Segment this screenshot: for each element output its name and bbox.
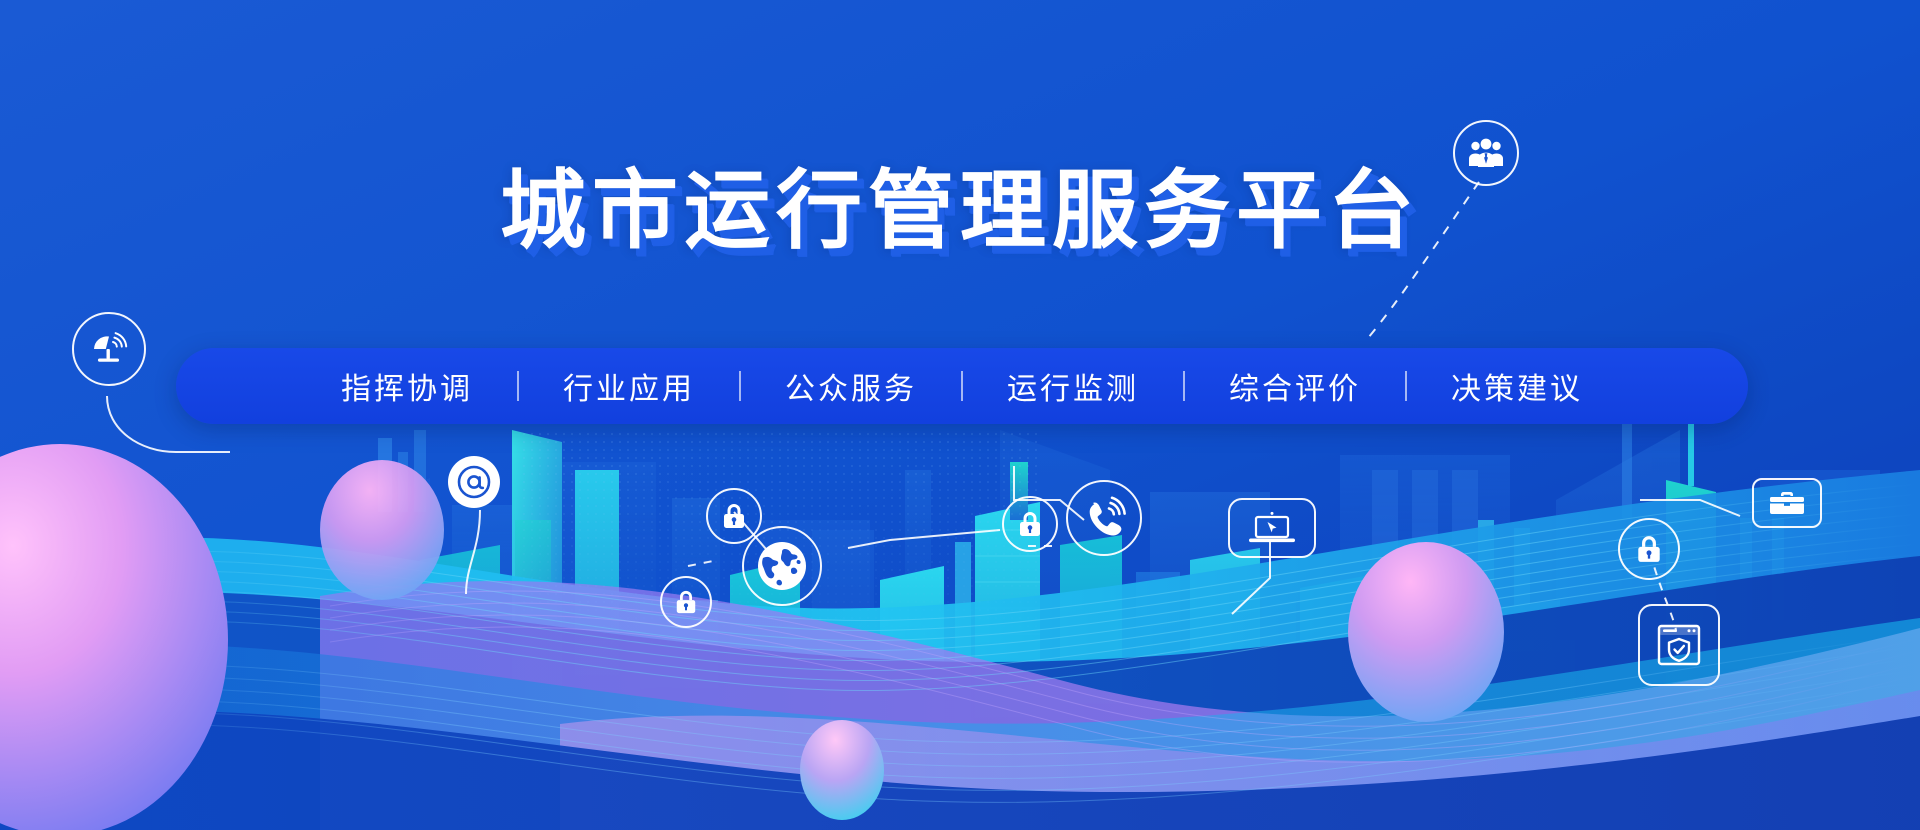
primary-nav-items: 指挥协调 行业应用 公众服务 运行监测 综合评价 决策建议: [297, 364, 1627, 408]
lock-icon-4[interactable]: [1618, 518, 1680, 580]
sphere-small: [800, 720, 884, 820]
nav-item-operation-monitoring[interactable]: 运行监测: [963, 364, 1183, 408]
contour-lines: [0, 484, 1920, 690]
globe-glyph: [754, 538, 810, 594]
city-ops-banner: 城市运行管理服务平台 指挥协调 行业应用 公众服务 运行监测 综合评价 决策建议: [0, 0, 1920, 830]
globe-icon[interactable]: [742, 526, 822, 606]
laptop-cursor-glyph: [1246, 510, 1298, 546]
browser-shield-icon[interactable]: [1638, 604, 1720, 686]
lock-icon-3[interactable]: [1002, 496, 1058, 552]
nav-item-public-service[interactable]: 公众服务: [741, 364, 961, 408]
sphere-mid-left: [320, 460, 444, 600]
lock-glyph: [1635, 534, 1663, 564]
nav-item-decision-advice[interactable]: 决策建议: [1407, 364, 1627, 408]
sphere-mid-right: [1348, 542, 1504, 722]
lock-glyph: [1017, 510, 1043, 538]
sphere-large-left: [0, 444, 228, 830]
lock-glyph: [721, 502, 747, 530]
nav-item-command-coordination[interactable]: 指挥协调: [297, 364, 517, 408]
primary-nav-bar[interactable]: 指挥协调 行业应用 公众服务 运行监测 综合评价 决策建议: [176, 348, 1748, 424]
at-sign-glyph: [457, 465, 491, 499]
page-title: 城市运行管理服务平台: [500, 168, 1420, 254]
lock-glyph: [674, 589, 698, 615]
briefcase-icon[interactable]: [1752, 478, 1822, 528]
contour-lines-lower: [0, 634, 1920, 802]
at-sign-icon[interactable]: [448, 456, 500, 508]
browser-shield-glyph: [1653, 619, 1705, 671]
page-title-wrap: 城市运行管理服务平台: [0, 168, 1920, 254]
lock-icon-1[interactable]: [706, 488, 762, 544]
nav-item-comprehensive-evaluation[interactable]: 综合评价: [1185, 364, 1405, 408]
phone-call-icon[interactable]: [1066, 480, 1142, 556]
lock-icon-2[interactable]: [660, 576, 712, 628]
nav-item-industry-application[interactable]: 行业应用: [519, 364, 739, 408]
briefcase-glyph: [1768, 489, 1806, 517]
satellite-dish-icon[interactable]: [72, 312, 146, 386]
phone-call-glyph: [1081, 495, 1127, 541]
skyline-buildings: [420, 420, 1830, 760]
people-group-glyph: [1468, 138, 1504, 168]
laptop-cursor-icon[interactable]: [1228, 498, 1316, 558]
satellite-dish-glyph: [89, 329, 129, 369]
